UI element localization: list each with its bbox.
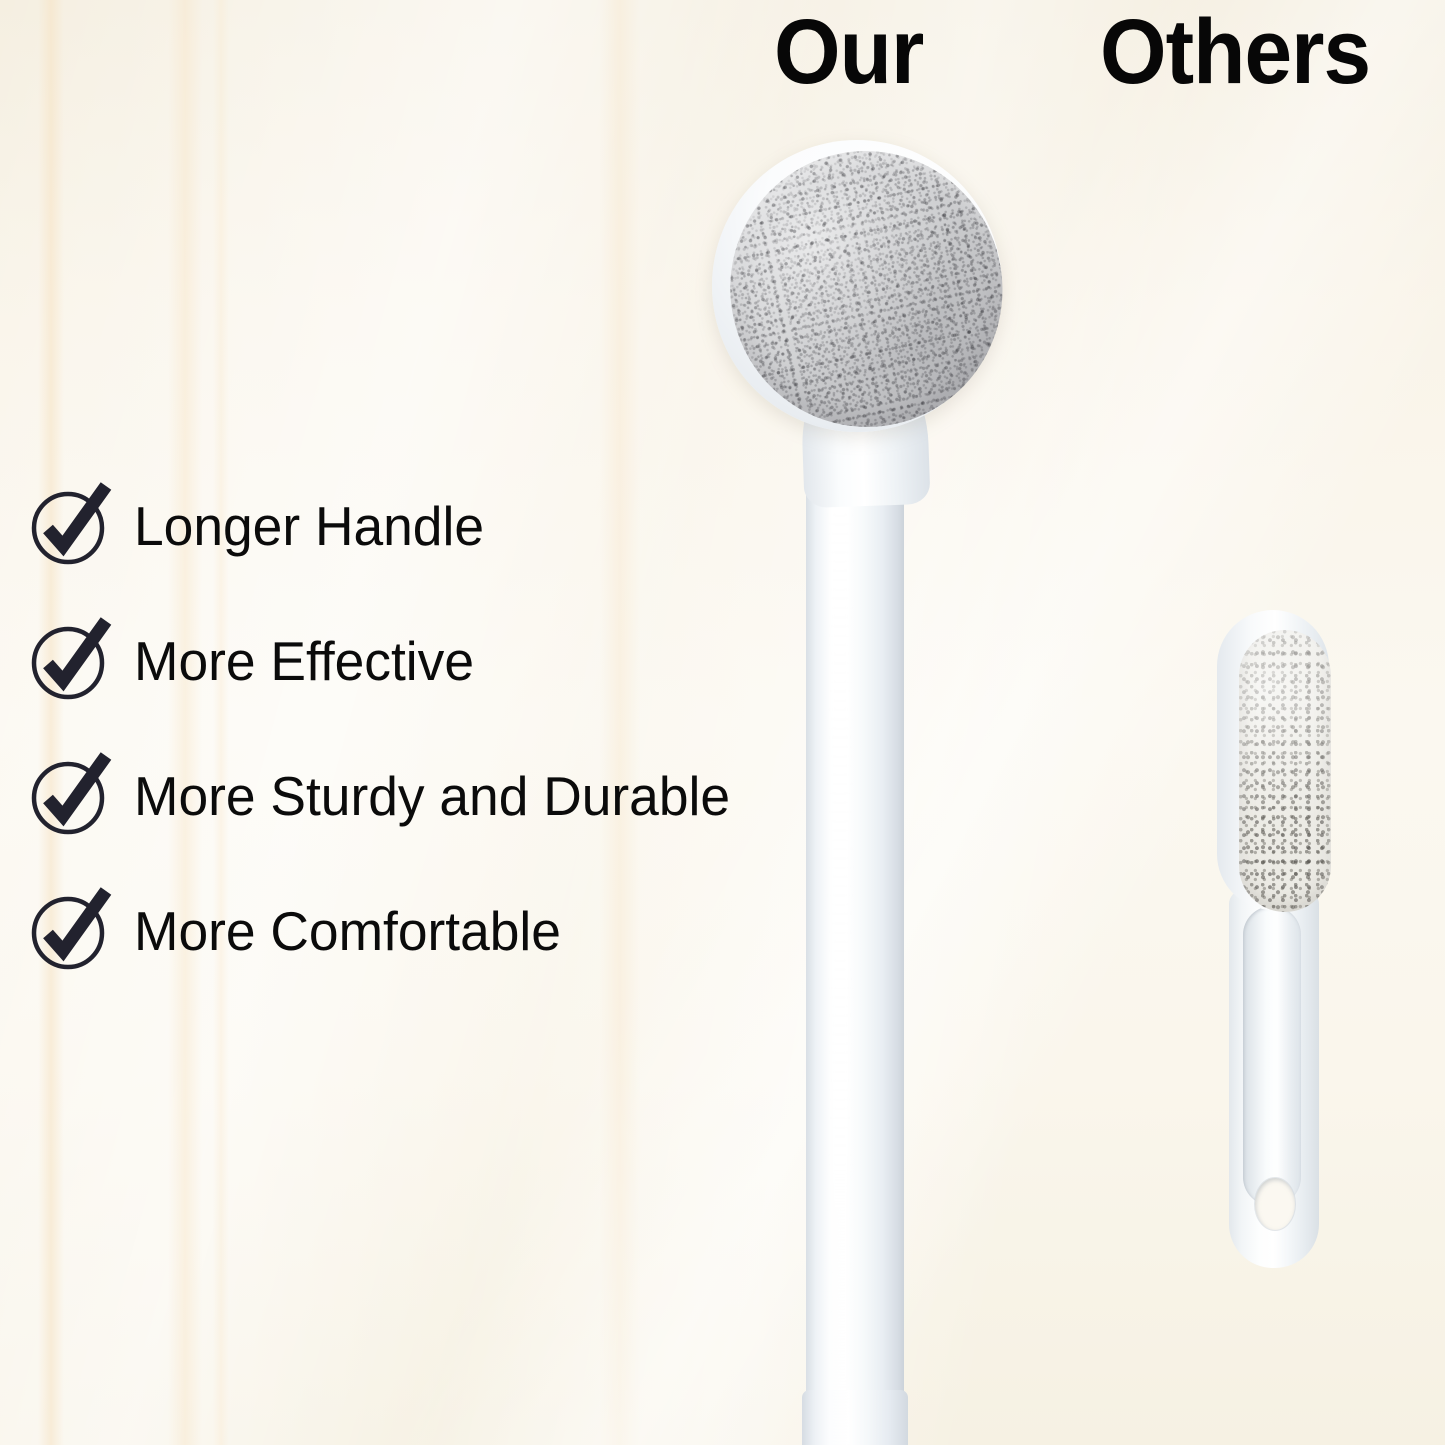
check-circle-icon: [28, 484, 112, 568]
handle-highlight: [830, 456, 850, 1445]
hang-hole-icon: [1255, 1178, 1295, 1230]
feature-label: More Sturdy and Durable: [134, 769, 730, 824]
oval-pumice-stone-head: [1239, 630, 1331, 912]
feature-row: More Sturdy and Durable: [28, 748, 788, 844]
check-circle-icon: [28, 619, 112, 703]
feature-row: More Effective: [28, 613, 788, 709]
our-product-image: [690, 120, 1030, 1445]
others-product-image: [1205, 600, 1355, 1290]
heading-our: Our: [774, 6, 923, 98]
feature-label: Longer Handle: [134, 499, 484, 554]
check-circle-icon: [28, 754, 112, 838]
head-backing-plate: [1217, 610, 1329, 910]
long-white-handle: [806, 450, 904, 1445]
round-pumice-stone-head: [705, 126, 1028, 453]
heading-others: Others: [1100, 6, 1370, 98]
feature-label: More Effective: [134, 634, 474, 689]
product-comparison-image: Our Others Longer Handle More Effective: [0, 0, 1445, 1445]
feature-label: More Comfortable: [134, 904, 561, 959]
feature-row: More Comfortable: [28, 883, 788, 979]
check-circle-icon: [28, 889, 112, 973]
feature-row: Longer Handle: [28, 478, 788, 574]
head-backing-plate: [698, 126, 1017, 447]
handle-tip: [802, 1390, 908, 1445]
feature-list: Longer Handle More Effective More Sturdy…: [28, 478, 788, 1018]
handle-groove: [1243, 906, 1301, 1206]
